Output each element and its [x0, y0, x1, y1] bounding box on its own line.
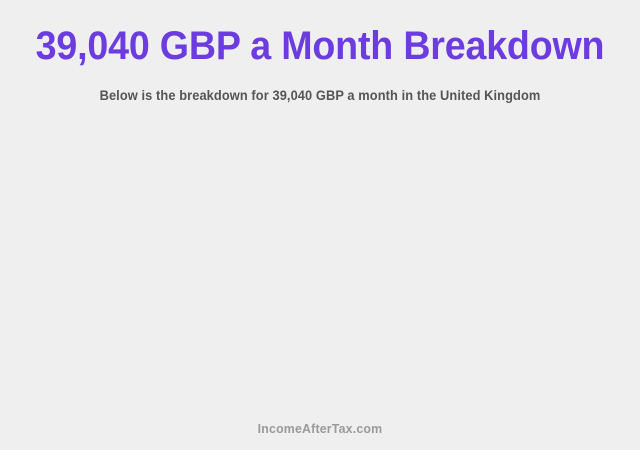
site-watermark: IncomeAfterTax.com	[16, 421, 624, 437]
breakdown-page: 39,040 GBP a Month Breakdown Below is th…	[0, 0, 640, 450]
page-subtitle: Below is the breakdown for 39,040 GBP a …	[16, 87, 624, 104]
page-title: 39,040 GBP a Month Breakdown	[19, 23, 621, 69]
chart-area	[0, 118, 640, 410]
